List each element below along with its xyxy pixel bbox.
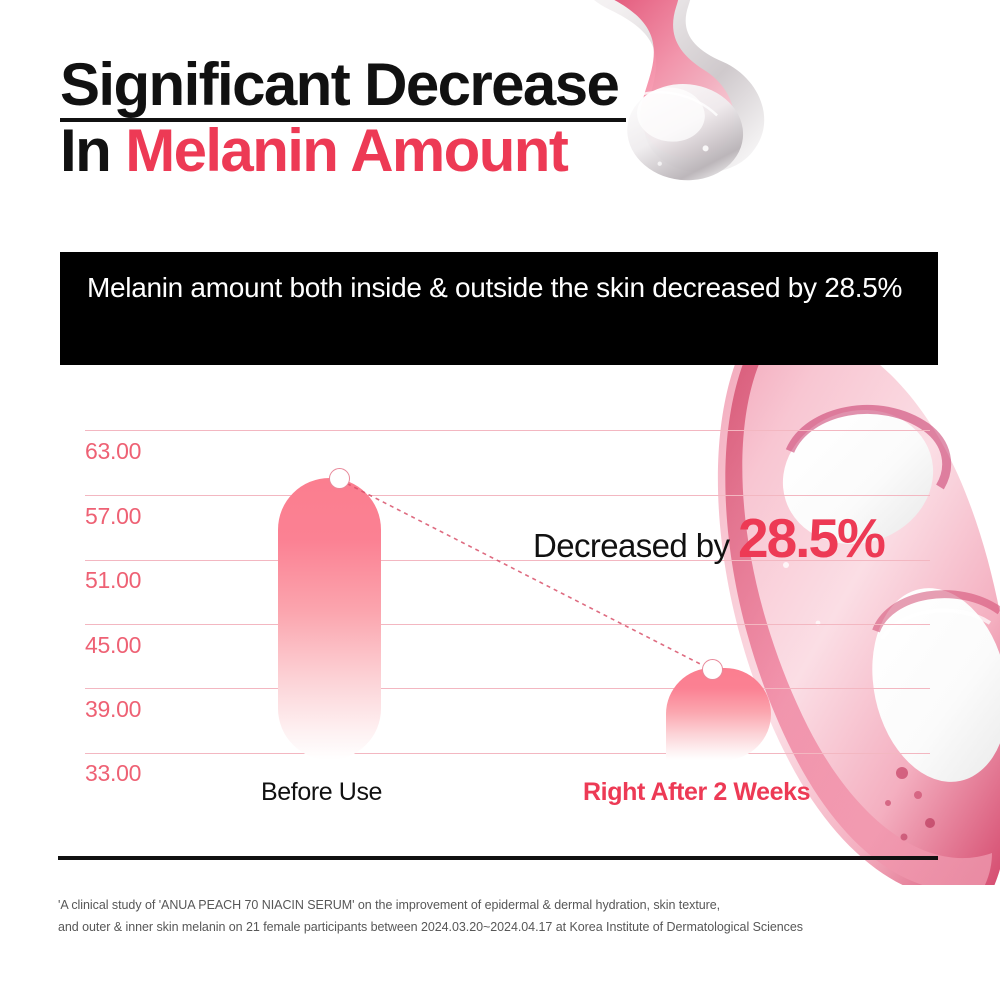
decrease-callout-prefix: Decreased by (533, 527, 738, 564)
category-label-right-after-2-weeks: Right After 2 Weeks (583, 778, 810, 807)
title-line-2: In Melanin Amount (60, 118, 680, 184)
decrease-callout-value: 28.5% (738, 507, 884, 569)
category-label-before-use: Before Use (261, 778, 382, 807)
title-line-2-prefix: In (60, 117, 125, 184)
infographic-page: Significant Decrease In Melanin Amount M… (0, 0, 1000, 1000)
title-underline-divider (60, 118, 626, 122)
melanin-bar-chart: 63.00 57.00 51.00 45.00 39.00 33.00 Befo… (0, 400, 1000, 840)
clinical-study-footnote: 'A clinical study of 'ANUA PEACH 70 NIAC… (58, 894, 948, 938)
statement-banner: Melanin amount both inside & outside the… (60, 252, 938, 365)
title-line-1: Significant Decrease (60, 52, 680, 118)
decrease-callout: Decreased by 28.5% (533, 506, 884, 570)
footnote-line-1: 'A clinical study of 'ANUA PEACH 70 NIAC… (58, 894, 948, 916)
statement-banner-text: Melanin amount both inside & outside the… (87, 268, 917, 308)
bottom-divider (58, 856, 938, 860)
title-line-2-accent: Melanin Amount (125, 117, 567, 184)
trend-line (0, 400, 1000, 840)
footnote-line-2: and outer & inner skin melanin on 21 fem… (58, 916, 948, 938)
data-point-marker-after (702, 659, 723, 680)
data-point-marker-before (329, 468, 350, 489)
